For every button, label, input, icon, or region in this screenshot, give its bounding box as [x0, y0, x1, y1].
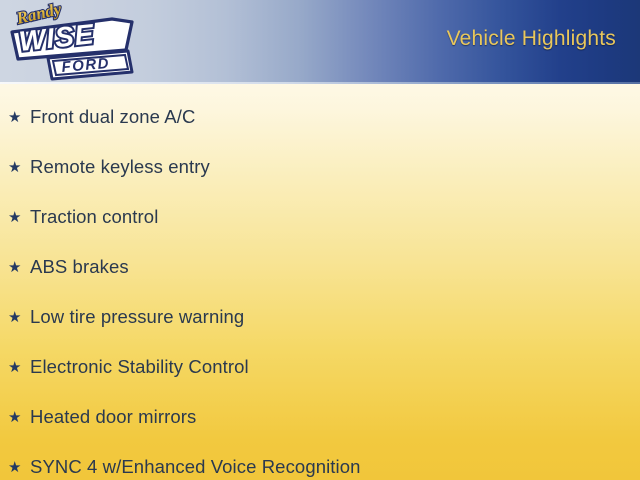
highlight-label: Low tire pressure warning: [30, 306, 244, 328]
star-bullet-icon: ★: [8, 459, 30, 475]
list-item: ★ Heated door mirrors: [0, 392, 640, 442]
list-item: ★ Front dual zone A/C: [0, 92, 640, 142]
slide-header: WISE Randy FORD Vehicle Highlights: [0, 0, 640, 84]
list-item: ★ ABS brakes: [0, 242, 640, 292]
highlight-label: Electronic Stability Control: [30, 356, 249, 378]
star-bullet-icon: ★: [8, 359, 30, 375]
header-divider: [0, 82, 640, 84]
vehicle-highlights-list: ★ Front dual zone A/C ★ Remote keyless e…: [0, 92, 640, 480]
highlight-label: SYNC 4 w/Enhanced Voice Recognition: [30, 456, 361, 478]
list-item: ★ Traction control: [0, 192, 640, 242]
list-item: ★ SYNC 4 w/Enhanced Voice Recognition: [0, 442, 640, 480]
vehicle-highlights-slide: WISE Randy FORD Vehicle Highlights ★ Fro…: [0, 0, 640, 480]
highlight-label: ABS brakes: [30, 256, 129, 278]
star-bullet-icon: ★: [8, 159, 30, 175]
star-bullet-icon: ★: [8, 309, 30, 325]
list-item: ★ Remote keyless entry: [0, 142, 640, 192]
page-title: Vehicle Highlights: [447, 27, 616, 51]
star-bullet-icon: ★: [8, 259, 30, 275]
highlight-label: Remote keyless entry: [30, 156, 210, 178]
list-item: ★ Low tire pressure warning: [0, 292, 640, 342]
star-bullet-icon: ★: [8, 409, 30, 425]
randy-wise-ford-logo: WISE Randy FORD: [4, 2, 140, 82]
highlight-label: Traction control: [30, 206, 158, 228]
star-bullet-icon: ★: [8, 209, 30, 225]
highlight-label: Heated door mirrors: [30, 406, 196, 428]
list-item: ★ Electronic Stability Control: [0, 342, 640, 392]
highlight-label: Front dual zone A/C: [30, 106, 195, 128]
star-bullet-icon: ★: [8, 109, 30, 125]
